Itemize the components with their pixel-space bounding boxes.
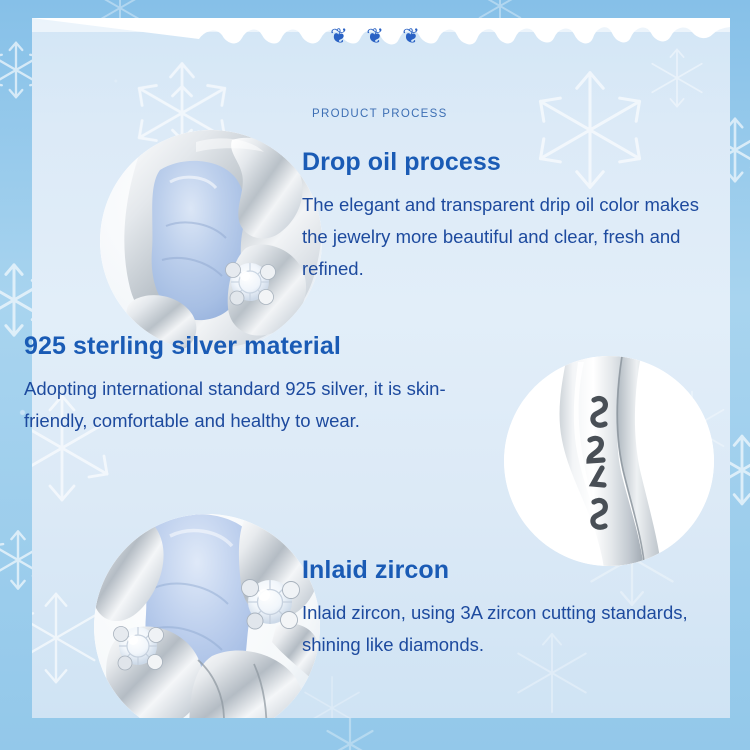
image-ring-s925-hallmark xyxy=(504,356,714,566)
section-eyebrow-label: PRODUCT PROCESS xyxy=(312,108,448,120)
butterfly-decoration-row: ❦ ❦ ❦ xyxy=(0,26,750,47)
feature-block-drop-oil: Drop oil process The elegant and transpa… xyxy=(302,148,714,284)
butterfly-icon: ❦ xyxy=(330,26,348,47)
butterfly-icon: ❦ xyxy=(366,26,384,47)
image-ring-drip-oil-closeup xyxy=(100,130,322,352)
feature-heading-zircon: Inlaid zircon xyxy=(302,556,712,585)
feature-heading-silver: 925 sterling silver material xyxy=(24,332,484,361)
butterfly-icon: ❦ xyxy=(402,26,420,47)
feature-body-zircon: Inlaid zircon, using 3A zircon cutting s… xyxy=(302,597,712,661)
product-process-infographic: ❦ ❦ ❦ PRODUCT PROCESS Drop oil process T… xyxy=(0,0,750,750)
feature-block-zircon: Inlaid zircon Inlaid zircon, using 3A zi… xyxy=(302,556,712,661)
feature-heading-drop-oil: Drop oil process xyxy=(302,148,714,177)
feature-body-drop-oil: The elegant and transparent drip oil col… xyxy=(302,189,714,284)
image-ring-inlaid-zircon-closeup xyxy=(94,514,320,718)
feature-body-silver: Adopting international standard 925 silv… xyxy=(24,373,484,437)
feature-block-silver: 925 sterling silver material Adopting in… xyxy=(24,332,484,437)
